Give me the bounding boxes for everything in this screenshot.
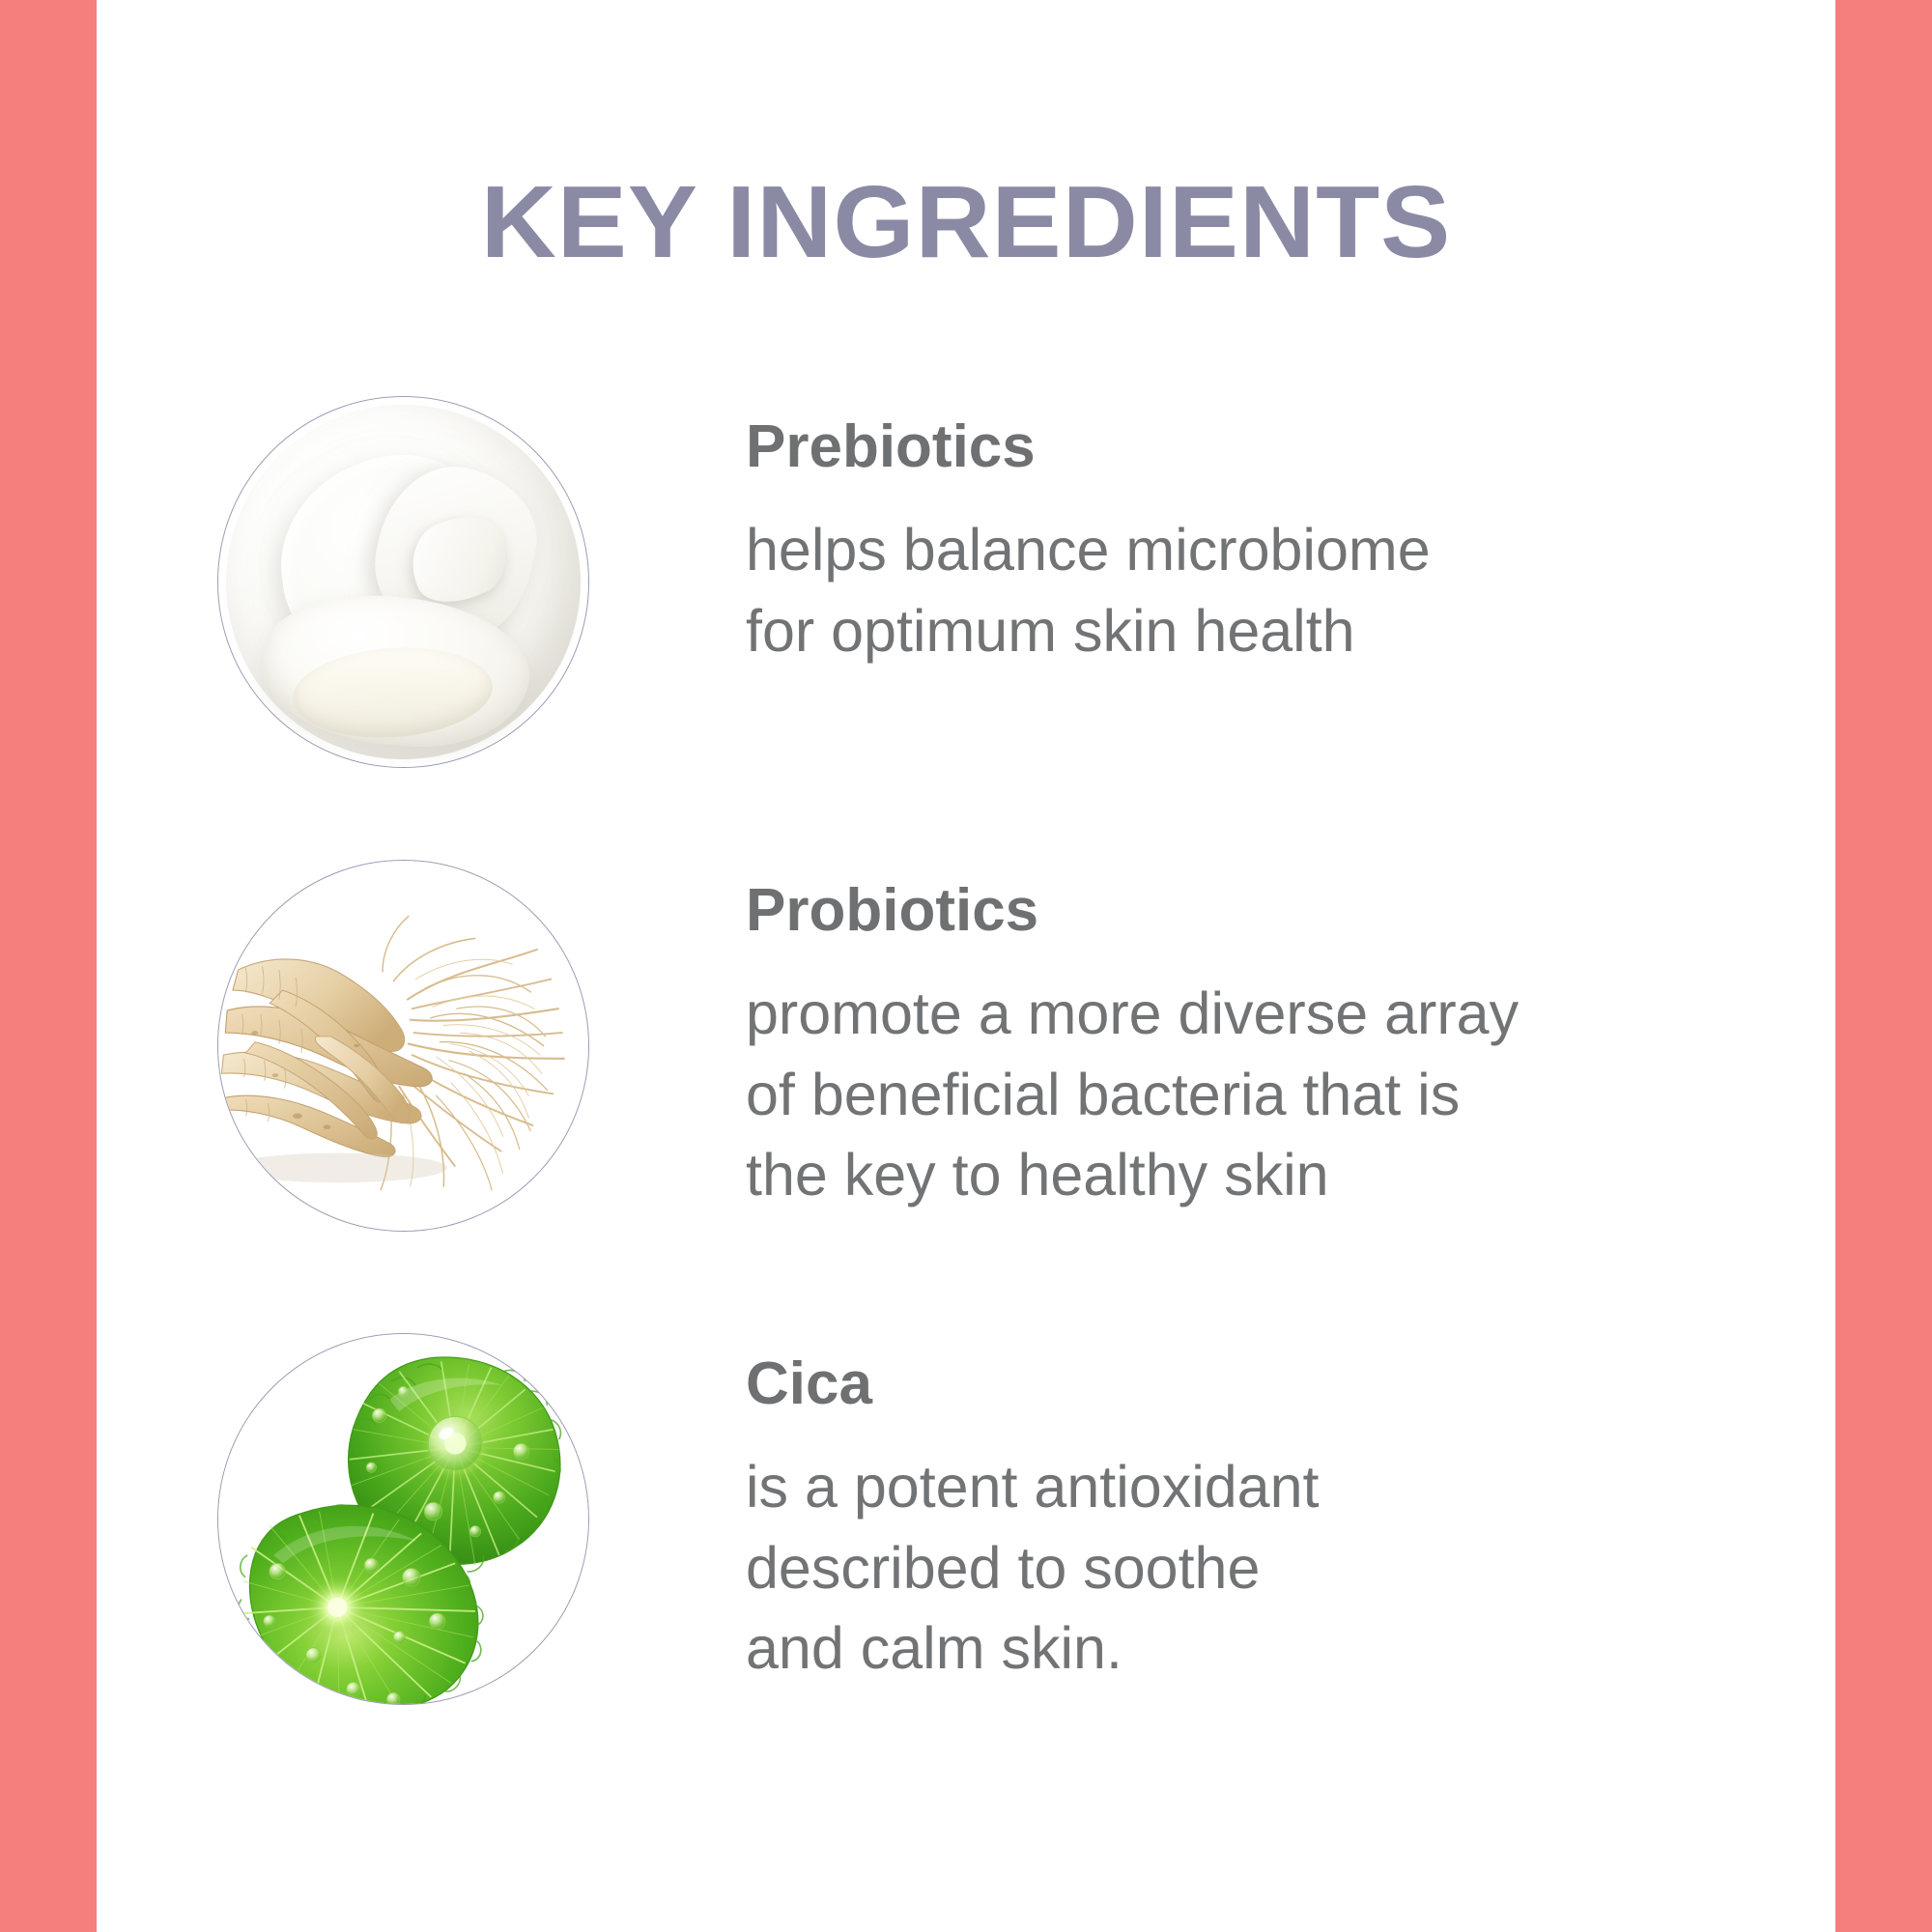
ingredient-copy: Probiotics promote a more diverse array …	[746, 860, 1835, 1216]
ingredient-name: Prebiotics	[746, 417, 1835, 477]
centella-leaves-image	[217, 1333, 589, 1705]
ingredient-row: Prebiotics helps balance microbiome for …	[97, 396, 1835, 768]
ingredient-name: Probiotics	[746, 881, 1835, 941]
ingredient-description: helps balance microbiome for optimum ski…	[746, 510, 1835, 671]
cream-swatch-illustration	[218, 397, 588, 767]
right-accent-bar	[1835, 0, 1932, 1932]
ingredient-image-frame	[217, 1333, 589, 1705]
ingredient-description: is a potent antioxidant described to soo…	[746, 1447, 1835, 1690]
ginseng-illustration	[218, 861, 588, 1231]
page-title: KEY INGREDIENTS	[79, 169, 1853, 276]
key-ingredients-infographic: KEY INGREDIENTS Prebiotics helps balance…	[0, 0, 1932, 1932]
ingredient-image-frame	[217, 860, 589, 1232]
ingredient-name: Cica	[746, 1354, 1835, 1414]
ingredient-description: promote a more diverse array of benefici…	[746, 974, 1835, 1216]
ginseng-root-image	[217, 860, 589, 1232]
ingredient-image-frame	[217, 396, 589, 768]
ingredient-copy: Prebiotics helps balance microbiome for …	[746, 396, 1835, 671]
ingredient-row: Probiotics promote a more diverse array …	[97, 860, 1835, 1232]
centella-illustration	[218, 1334, 588, 1704]
ingredient-row: Cica is a potent antioxidant described t…	[97, 1333, 1835, 1705]
ginseng-root-graphic	[218, 861, 588, 1231]
left-accent-bar	[0, 0, 97, 1932]
ingredient-copy: Cica is a potent antioxidant described t…	[746, 1333, 1835, 1690]
centella-leaves-graphic	[218, 1334, 588, 1704]
cream-swatch-image	[217, 396, 589, 768]
